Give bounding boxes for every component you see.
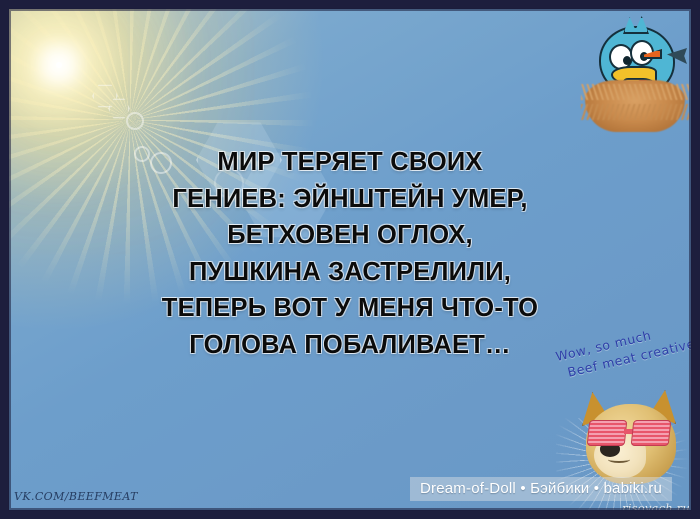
vk-watermark[interactable]: VK.COM/BEEFMEAT	[14, 490, 138, 503]
meme-line-1: МИР ТЕРЯЕТ СВОИХ	[20, 144, 680, 181]
bird-pupil-left	[623, 56, 631, 65]
meme-line-3: БЕТХОВЕН ОГЛОХ,	[20, 217, 680, 254]
meme-image: МИР ТЕРЯЕТ СВОИХ ГЕНИЕВ: ЭЙНШТЕЙН УМЕР, …	[0, 0, 700, 519]
shutter-shades-icon	[588, 420, 672, 446]
source-caption-bar[interactable]: Dream-of-Doll • Бэйбики • babiki.ru	[410, 477, 672, 501]
meme-line-2: ГЕНИЕВ: ЭЙНШТЕЙН УМЕР,	[20, 181, 680, 218]
meme-line-5: ТЕПЕРЬ ВОТ У МЕНЯ ЧТО-ТО	[20, 290, 680, 327]
meme-line-6: ГОЛОВА ПОБАЛИВАЕТ…	[20, 327, 680, 364]
doge-icon	[578, 390, 686, 490]
bird-tuft	[623, 16, 649, 34]
shades-lens-right	[631, 420, 672, 446]
sun-icon	[56, 62, 62, 68]
risovach-watermark[interactable]: risovach.ru	[622, 501, 690, 515]
meme-line-4: ПУШКИНА ЗАСТРЕЛИЛИ,	[20, 254, 680, 291]
bird-nest-icon	[585, 80, 685, 132]
meme-caption-text: МИР ТЕРЯЕТ СВОИХ ГЕНИЕВ: ЭЙНШТЕЙН УМЕР, …	[20, 144, 680, 363]
doge-mouth	[608, 456, 630, 463]
lens-flare-ring-1	[126, 112, 144, 130]
angry-bird-icon	[583, 18, 688, 143]
shades-lens-left	[587, 420, 628, 446]
